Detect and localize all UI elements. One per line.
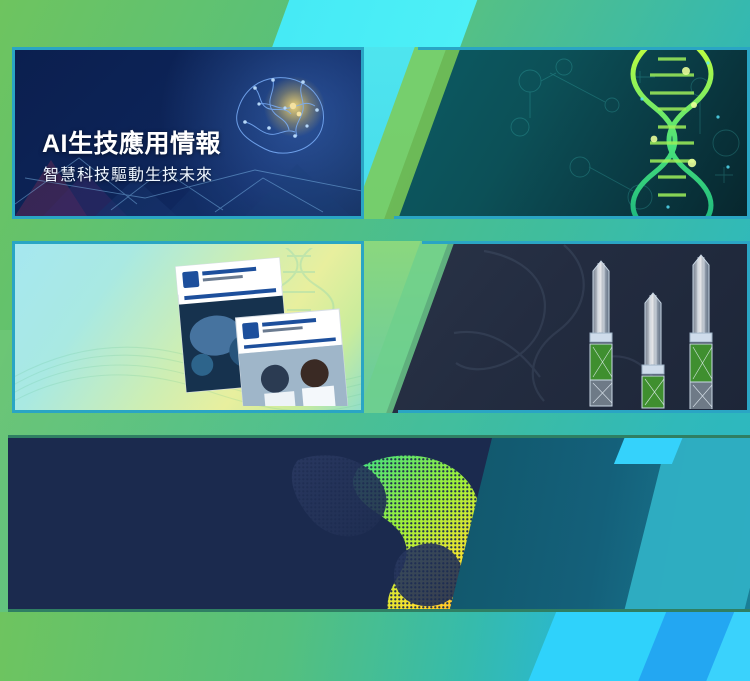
card-ai-biotech[interactable]: AI生技應用情報 智慧科技驅動生技未來 more <box>12 47 364 219</box>
molecule-pattern-decoration <box>490 47 750 219</box>
card-industry-trend[interactable]: 產業趨勢快報 最新動態 ✕ 全面洞察 more <box>12 241 364 413</box>
card-precision-health[interactable]: 精準健康與 智慧醫療特輯 掌握科技醫療新篇章 more <box>364 47 750 219</box>
card-border-bottom <box>398 410 750 413</box>
card-pharma-equipment[interactable]: 製藥設備新訊 從實驗室到產線， 解密最新設備規格 more <box>364 241 750 413</box>
card-title: AI生技應用情報 <box>42 130 221 160</box>
chromatography-columns-icon <box>565 247 740 409</box>
banner-booth-activity[interactable]: 攤位活動情報 產業趨勢 ✕ 現場直擊，一站掌握！ 立即 登錄參觀 more <box>8 435 750 612</box>
card-border-top <box>422 241 750 244</box>
dna-helix-icon <box>558 47 748 219</box>
background-green-stripe-right <box>459 0 750 50</box>
abstract-structure-decoration <box>444 241 744 413</box>
wave-lines-decoration <box>15 320 361 410</box>
brain-network-icon <box>207 52 357 172</box>
card-subtitle: 智慧科技驅動生技未來 <box>43 166 213 186</box>
report-covers-icon <box>163 256 353 406</box>
promo-page: AI生技應用情報 智慧科技驅動生技未來 more <box>0 0 750 681</box>
card-border-top <box>418 47 750 50</box>
card-border-bottom <box>394 216 750 219</box>
dna-outline-decoration <box>257 248 347 338</box>
